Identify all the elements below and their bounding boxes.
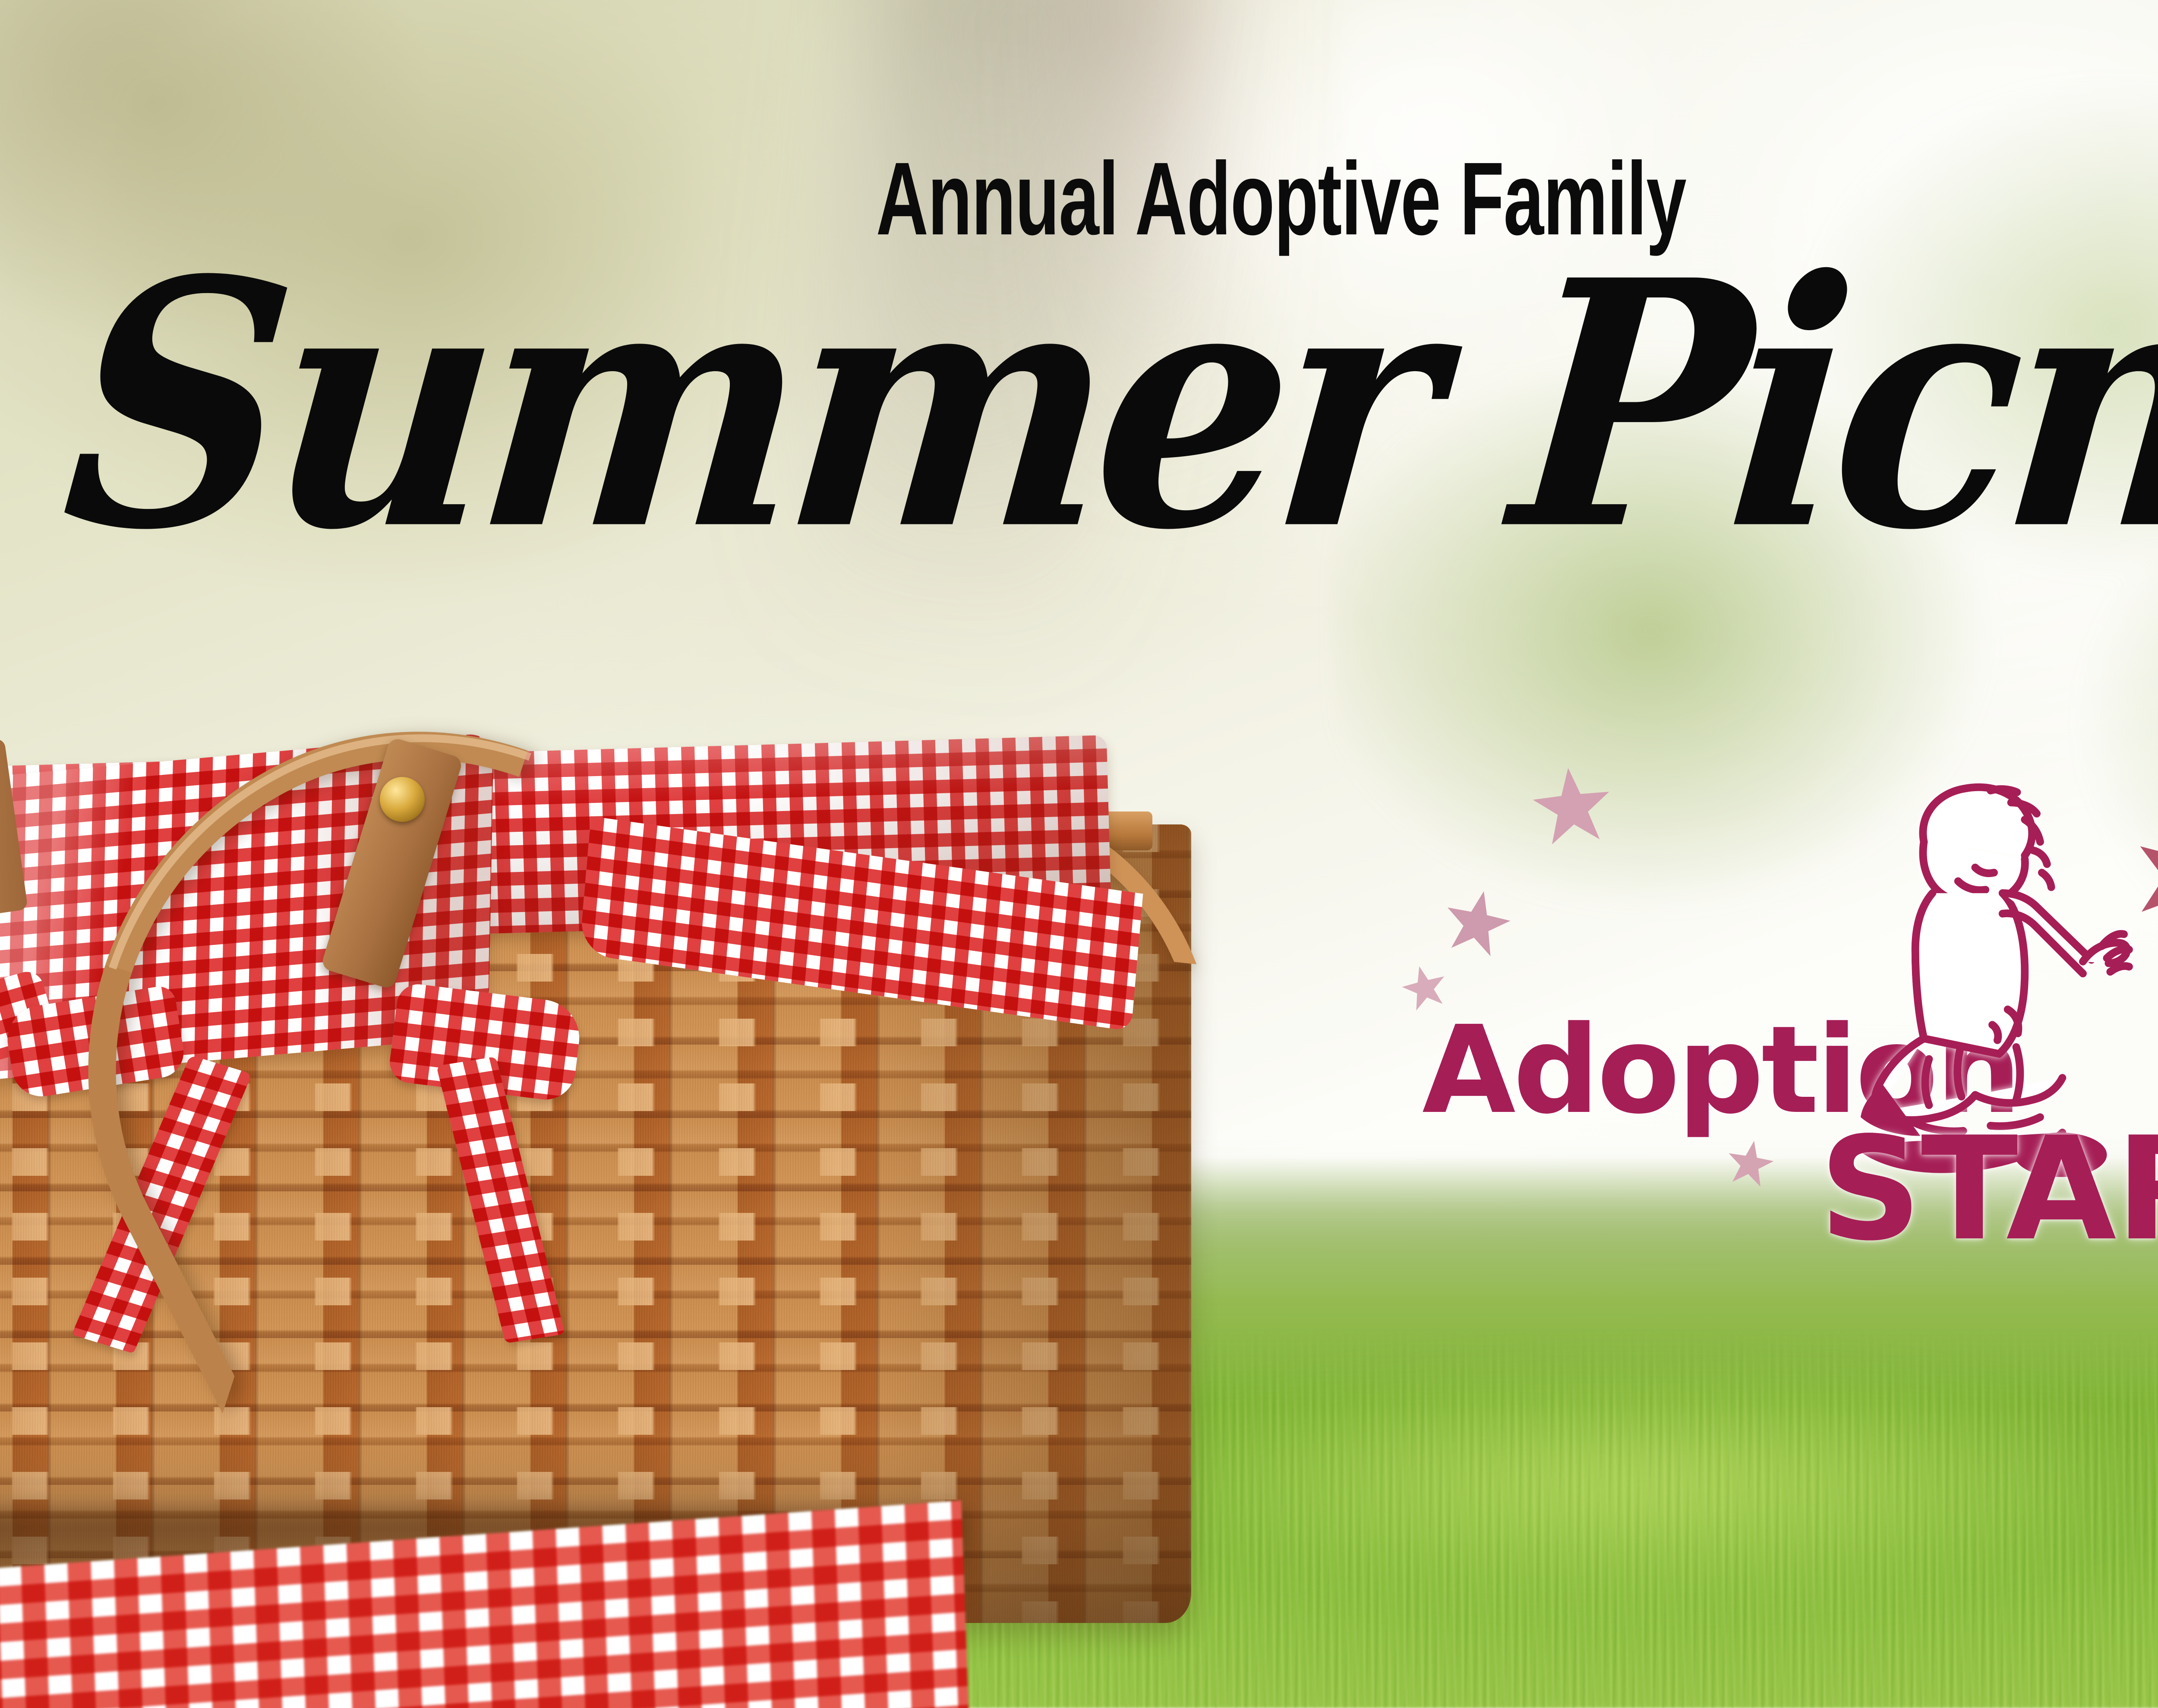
picnic-basket bbox=[0, 596, 1265, 1632]
logo-wordmark-star: STAR bbox=[1819, 1118, 2158, 1260]
star-icon bbox=[1528, 762, 1616, 850]
star-icon bbox=[1723, 1136, 1777, 1190]
brass-rivet-right bbox=[380, 777, 425, 822]
adoption-star-logo[interactable]: Adoption STAR bbox=[1398, 729, 2158, 1403]
page-title-kicker: Annual Adoptive Family bbox=[384, 147, 2158, 250]
star-icon bbox=[1438, 883, 1517, 963]
summer-picnic-flyer: Adoption STAR bbox=[0, 0, 2158, 1708]
